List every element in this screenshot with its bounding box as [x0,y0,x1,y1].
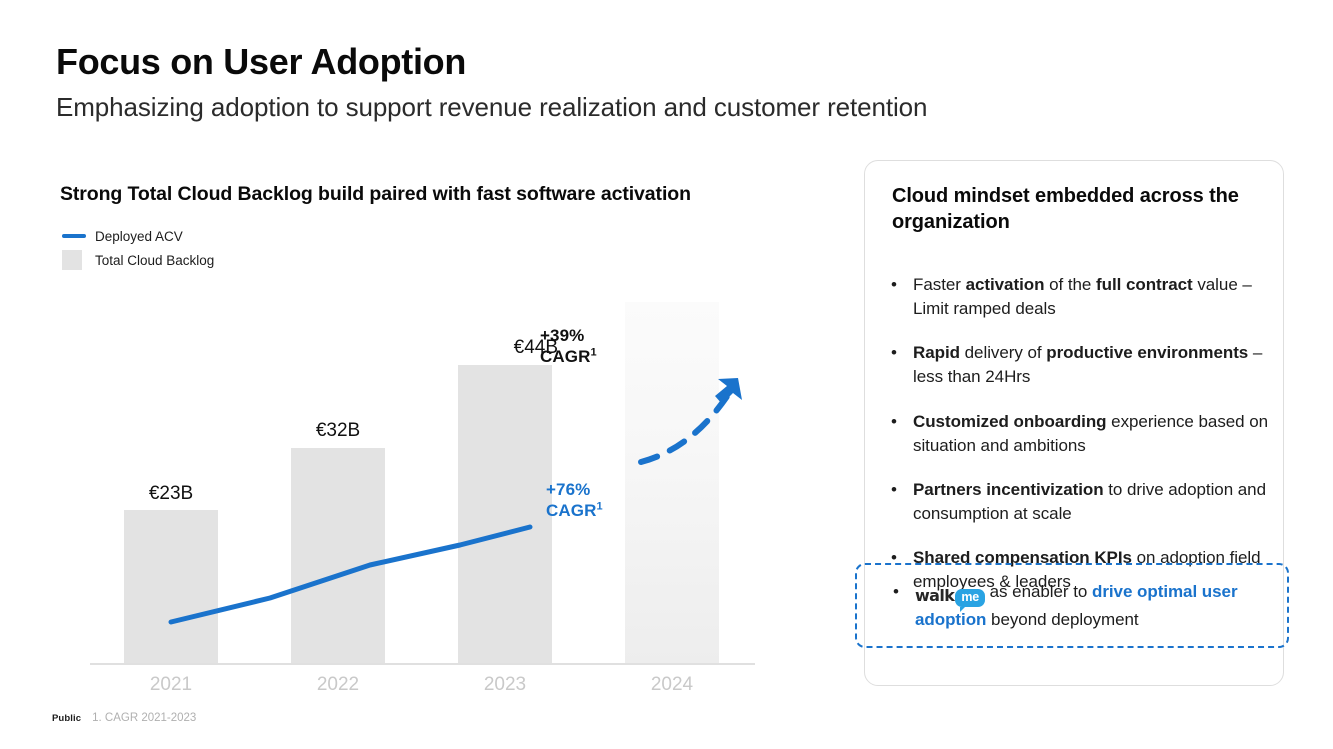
cagr-annotation-acv: +76% CAGR1 [546,479,603,522]
x-tick-2024: 2024 [612,674,732,696]
walkme-wordmark: walk [915,585,954,608]
x-axis-line [90,663,755,665]
x-tick-2022: 2022 [278,674,398,696]
bullet-text: Customized onboarding experience based o… [913,410,1277,458]
bar-2022 [291,448,385,663]
bar-2021 [124,510,218,663]
bullet-text: Faster activation of the full contract v… [913,273,1277,321]
footnote: 1. CAGR 2021-2023 [92,712,196,724]
list-item: • Partners incentivization to drive adop… [865,478,1285,526]
bullet-text: Rapid delivery of productive environment… [913,341,1277,389]
list-item: • Rapid delivery of productive environme… [865,341,1285,389]
walkme-badge: me [955,584,985,608]
list-item: • Faster activation of the full contract… [865,273,1285,321]
classification-label: Public [52,713,81,724]
bullet-text: Partners incentivization to drive adopti… [913,478,1277,526]
slide-canvas: Focus on User Adoption Emphasizing adopt… [0,0,1333,749]
bar-2024-projected [625,302,719,663]
cagr-annotation-backlog: +39% CAGR1 [540,325,597,368]
bullet-dot-icon: • [891,273,913,321]
walkme-badge-tail-icon [960,607,965,612]
list-item: • Customized onboarding experience based… [865,410,1285,458]
bullet-dot-icon: • [891,478,913,526]
plot-area: €23B €32B €44B +39% CAGR1 +76% CAGR1 [0,0,840,700]
bullet-text-walkme: walkme as enabler to drive optimal user … [915,580,1279,633]
highlighted-list-item-walkme: • walkme as enabler to drive optimal use… [855,563,1289,648]
bar-value-label-2022: €32B [278,420,398,442]
cagr-caption: CAGR1 [546,500,603,521]
bullet-dot-icon: • [891,341,913,389]
cagr-value: +39% [540,325,597,346]
bar-value-label-2021: €23B [111,483,231,505]
x-tick-2021: 2021 [111,674,231,696]
bullet-dot-icon: • [891,410,913,458]
cloud-mindset-card: Cloud mindset embedded across the organi… [864,160,1284,686]
footer: Public 1. CAGR 2021-2023 [52,712,196,724]
chart-panel: Strong Total Cloud Backlog build paired … [0,0,840,749]
card-title: Cloud mindset embedded across the organi… [892,183,1257,236]
bullet-dot-icon: • [893,580,915,633]
bar-value-label-2023: €44B [418,337,558,359]
bar-2023 [458,365,552,663]
bullet-list: • Faster activation of the full contract… [865,273,1285,614]
walkme-logo-icon: walkme [915,584,985,608]
x-tick-2023: 2023 [445,674,565,696]
walkme-badge-label: me [955,589,985,607]
cagr-value: +76% [546,479,603,500]
cagr-caption: CAGR1 [540,346,597,367]
